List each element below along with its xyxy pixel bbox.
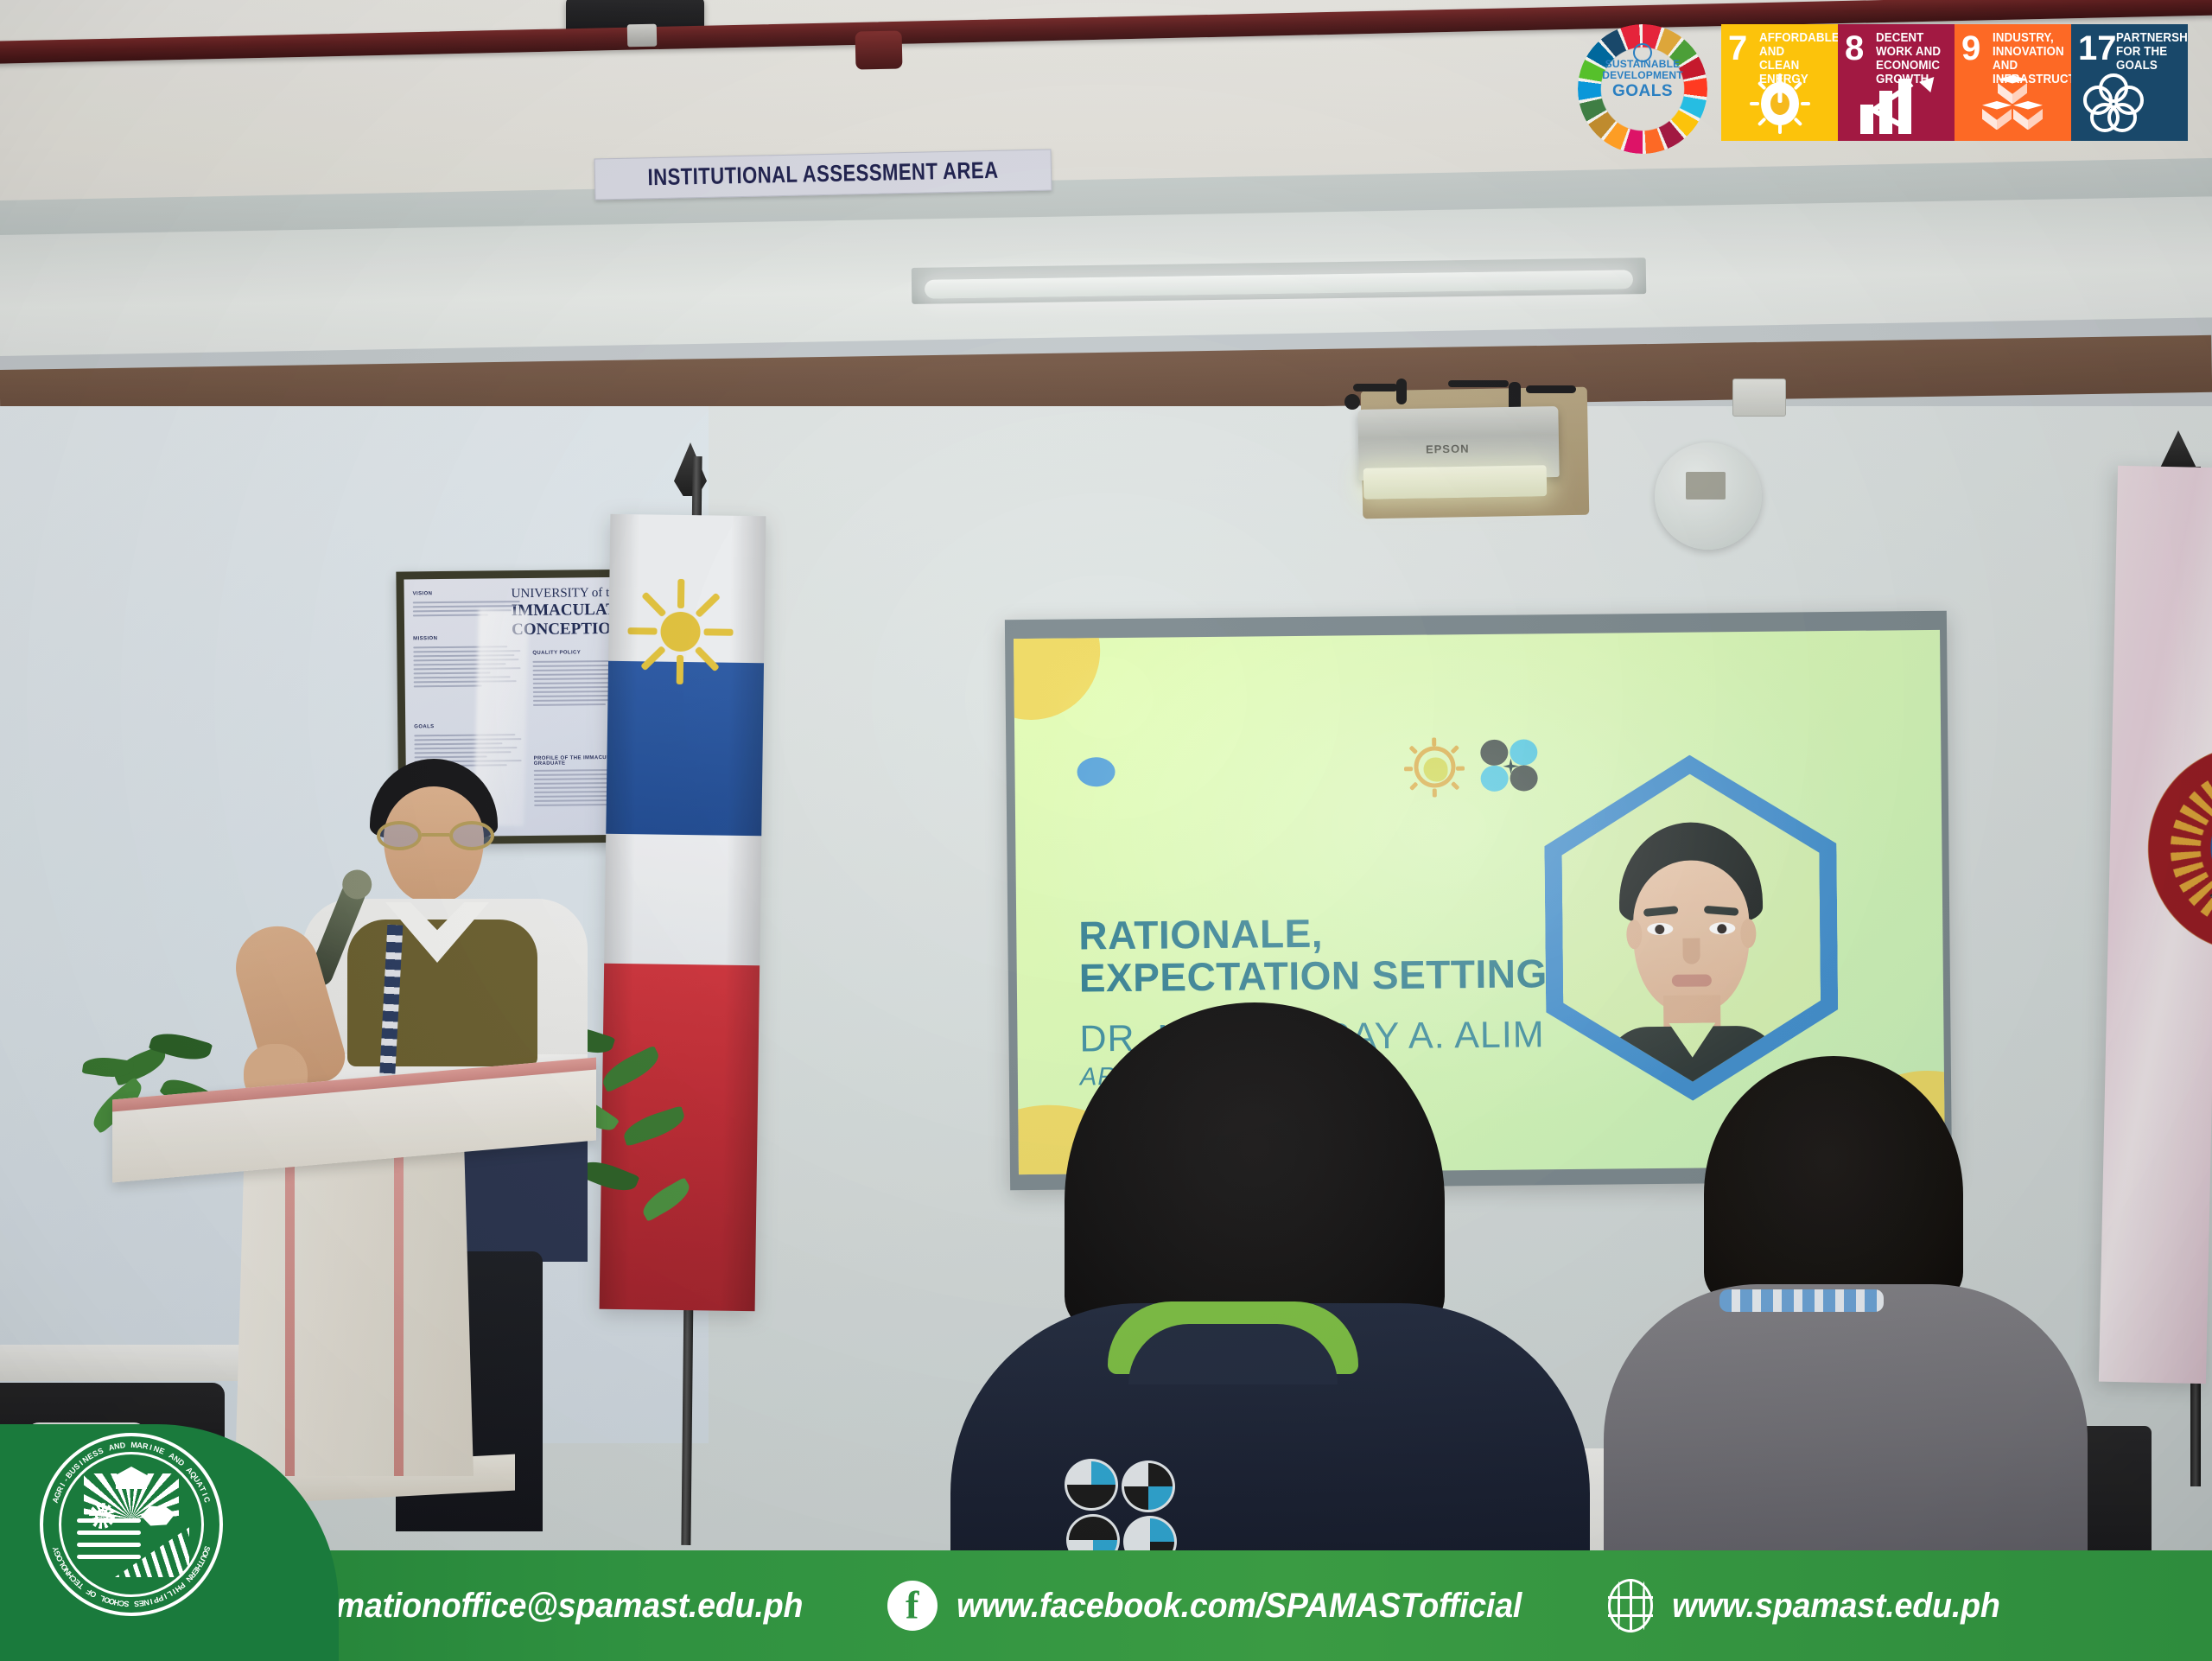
sdg-goal-9-badge: 9 INDUSTRY, INNOVATION AND INFRASTRUCTUR… xyxy=(1955,24,2071,141)
audience-member-right-lanyard xyxy=(1719,1289,1884,1312)
podium-body xyxy=(235,1139,474,1476)
sdg-goal-17-label-line1: PARTNERSHIPS xyxy=(2116,32,2178,46)
sdg-goal-9-label-line1: INDUSTRY, INNOVATION xyxy=(1993,32,2061,60)
poster-section-vision: VISION xyxy=(413,591,433,596)
footer-website-item[interactable]: www.spamast.edu.ph xyxy=(1608,1579,2021,1632)
audience-member-front-collar xyxy=(1108,1301,1358,1374)
speaker-eyeglasses-icon xyxy=(377,821,494,850)
slide-title: RATIONALE, EXPECTATION SETTING xyxy=(1078,910,1563,999)
sdg-goal-7-badge: 7 AFFORDABLE AND CLEAN ENERGY xyxy=(1721,24,1838,141)
cubes-icon xyxy=(1955,72,2071,136)
pipe-joint-icon xyxy=(855,30,903,69)
footer-email-text: informationoffice@spamast.edu.ph xyxy=(264,1587,803,1626)
four-petal-flower-logo-icon xyxy=(1480,739,1541,793)
sdg-wheel-line-2: DEVELOPMENT xyxy=(1578,70,1707,81)
growth-chart-icon xyxy=(1838,72,1955,136)
podium-stripe-left xyxy=(285,1139,295,1476)
footer-facebook-item[interactable]: www.facebook.com/SPAMASTofficial xyxy=(887,1581,1558,1631)
sdg-goal-17-number: 17 xyxy=(2078,31,2117,66)
slide-decor-circle-top-left xyxy=(1014,630,1101,721)
sdg-wheel-logo: SUSTAINABLE DEVELOPMENT GOALS xyxy=(1578,24,1707,154)
side-table-left xyxy=(0,1345,242,1381)
sdg-goal-9-number: 9 xyxy=(1961,31,1980,66)
room-photograph: INSTITUTIONAL ASSESSMENT AREA EPSON xyxy=(0,0,2212,1661)
seal-circular-text: AGRI-BUSINESS AND MARINE AND AQUATICSOUT… xyxy=(43,1436,219,1613)
wall-sign-label: INSTITUTIONAL ASSESSMENT AREA xyxy=(647,157,998,191)
uic-flag xyxy=(2099,466,2212,1384)
sdg-goal-8-number: 8 xyxy=(1845,31,1864,66)
wall-outlet xyxy=(1732,379,1786,417)
slide-decor-blue-dot xyxy=(1077,757,1115,786)
projector-lens-glow xyxy=(1363,465,1548,500)
poster-section-mission: MISSION xyxy=(413,636,437,641)
spamast-seal-icon: AGRI-BUSINESS AND MARINE AND AQUATICSOUT… xyxy=(40,1433,223,1616)
globe-icon xyxy=(1608,1579,1653,1632)
philippine-flag-sun-icon xyxy=(624,575,738,689)
sdg-goal-8-badge: 8 DECENT WORK AND ECONOMIC GROWTH xyxy=(1838,24,1955,141)
audience-member-right-head xyxy=(1704,1056,1963,1315)
portrait-illustration xyxy=(1608,822,1775,1083)
sdg-goal-8-label-line1: DECENT WORK AND xyxy=(1876,32,1944,60)
sdg-wheel-line-3: GOALS xyxy=(1578,82,1707,100)
sdg-wheel-line-1: SUSTAINABLE xyxy=(1578,59,1707,70)
sun-logo-icon xyxy=(1408,740,1462,794)
slide-speaker-portrait xyxy=(1543,754,1839,1102)
sdg-goal-17-label-line2: FOR THE GOALS xyxy=(2116,46,2178,73)
projector-brand-label: EPSON xyxy=(1426,442,1470,456)
footer-facebook-text: www.facebook.com/SPAMASTofficial xyxy=(957,1587,1522,1626)
sdg-goal-17-badge: 17 PARTNERSHIPS FOR THE GOALS xyxy=(2071,24,2188,141)
footer-website-text: www.spamast.edu.ph xyxy=(1672,1587,2000,1626)
poster-section-goals: GOALS xyxy=(414,724,434,729)
pipe-clamp-icon xyxy=(627,24,658,48)
event-photo-canvas: INSTITUTIONAL ASSESSMENT AREA EPSON xyxy=(0,0,2212,1661)
uic-seal-icon xyxy=(2113,710,2212,988)
facebook-icon xyxy=(887,1581,938,1631)
sun-power-icon xyxy=(1721,72,1838,136)
sdg-goal-7-number: 7 xyxy=(1728,31,1747,66)
sdg-goal-7-label-line1: AFFORDABLE AND xyxy=(1759,32,1827,60)
poster-section-quality-policy: QUALITY POLICY xyxy=(532,650,581,656)
podium-stripe-right xyxy=(394,1139,404,1476)
sdg-badge-row: SUSTAINABLE DEVELOPMENT GOALS 7 AFFORDAB… xyxy=(1578,24,2188,154)
interlocking-circles-icon xyxy=(2071,72,2188,136)
slide-logo-row xyxy=(1408,739,1541,793)
ceiling-speaker-round xyxy=(1655,442,1762,550)
audience-member-right-body xyxy=(1604,1284,2088,1587)
